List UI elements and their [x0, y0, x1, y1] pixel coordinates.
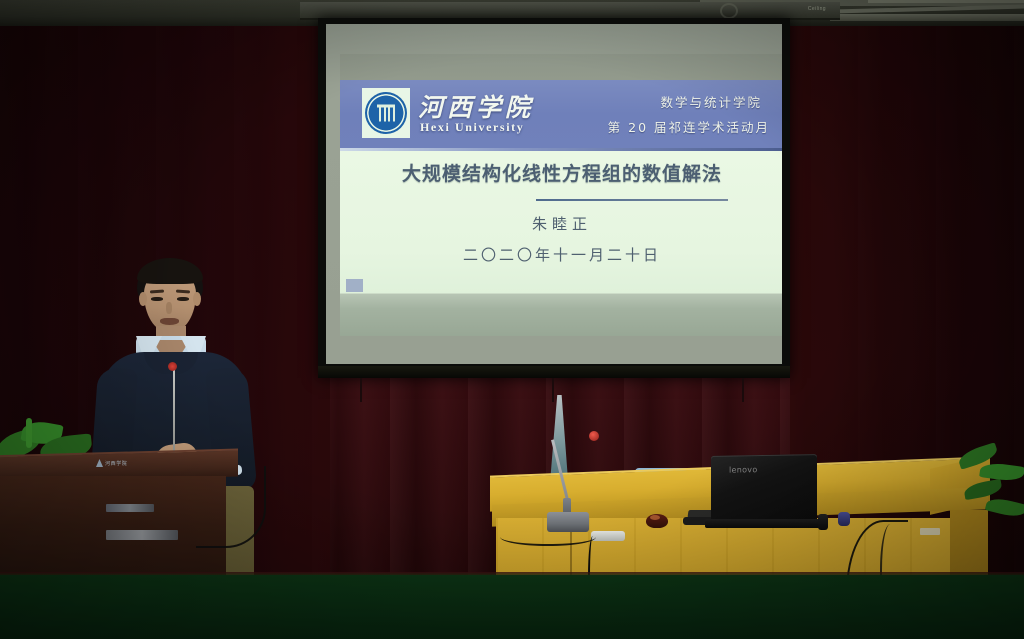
- event-label: 第 20 届祁连学术活动月: [608, 117, 770, 136]
- slide-title: 大规模结构化线性方程组的数值解法: [340, 159, 782, 186]
- ceiling-beam: [868, 0, 1024, 3]
- presentation-slide: 河西学院 Hexi University 数学与统计学院 第 20 届祁连学术活…: [340, 54, 782, 336]
- laptop-lid: lenovo: [711, 454, 817, 524]
- screen-shadow-drop: [552, 378, 554, 402]
- slide-header: 河西学院 Hexi University 数学与统计学院 第 20 届祁连学术活…: [340, 80, 782, 148]
- vga-connector: [838, 512, 850, 526]
- speaker-eye-left: [151, 297, 163, 301]
- department-label: 数学与统计学院: [660, 92, 762, 111]
- lectern-panel-strip: [106, 504, 154, 512]
- desk-cable: [500, 528, 596, 546]
- slide-top-margin: [340, 54, 782, 80]
- speaker-nose: [166, 302, 172, 314]
- stage-floor: [0, 575, 1024, 639]
- slide-corner-marker: [346, 279, 363, 292]
- ceiling-light: [830, 14, 1024, 21]
- lectern-panel-strip: [106, 530, 178, 540]
- plant-leaf: [985, 495, 1024, 519]
- hexi-university-seal-icon: [362, 88, 410, 138]
- lectern-nameplate: 河西学院: [96, 458, 152, 468]
- plant-leaf: [963, 479, 1003, 500]
- desk-microphone-head: [589, 431, 599, 441]
- slide-author: 朱睦正: [340, 213, 782, 234]
- laptop-brand-label: lenovo: [729, 465, 758, 474]
- slide-date: 二〇二〇年十一月二十日: [340, 244, 782, 265]
- lectern-logo-icon: [96, 459, 103, 467]
- power-plug: [818, 514, 828, 530]
- roller-brand-label: Ceiling: [808, 6, 826, 12]
- screen-shadow-drop: [360, 378, 362, 402]
- speaker-hair-front: [137, 258, 203, 284]
- screen-roller-knob: [720, 3, 738, 19]
- speaker-ear-right: [193, 292, 201, 306]
- speaker-mouth: [160, 318, 179, 325]
- projection-screen: 河西学院 Hexi University 数学与统计学院 第 20 届祁连学术活…: [318, 18, 790, 378]
- speaker-ear-left: [139, 292, 147, 306]
- laptop-base: [705, 519, 823, 528]
- slide-body: 大规模结构化线性方程组的数值解法 朱睦正 二〇二〇年十一月二十日: [340, 151, 782, 294]
- podium-microphone-head: [168, 362, 177, 371]
- university-name-en: Hexi University: [420, 120, 524, 135]
- lectern-plate-text: 河西学院: [105, 460, 127, 467]
- speaker-eye-right: [177, 297, 189, 301]
- projection-screen-surface: 河西学院 Hexi University 数学与统计学院 第 20 届祁连学术活…: [326, 24, 782, 364]
- screen-weight-bar: [318, 366, 790, 378]
- plant-leaf: [979, 461, 1024, 483]
- computer-mouse-highlight: [650, 515, 660, 520]
- desk-paper: [920, 528, 940, 535]
- plant-stem: [26, 418, 32, 448]
- potted-plant-right: [952, 446, 1024, 566]
- university-name-cn: 河西学院: [418, 88, 534, 124]
- screen-shadow-drop: [742, 378, 744, 402]
- slide-title-underline: [536, 199, 728, 201]
- lecture-hall-photo: Ceiling 河西学院 Hexi University 数学与统计学院 第 2…: [0, 0, 1024, 639]
- slide-footer-band: [340, 294, 782, 336]
- laptop[interactable]: lenovo: [705, 455, 823, 531]
